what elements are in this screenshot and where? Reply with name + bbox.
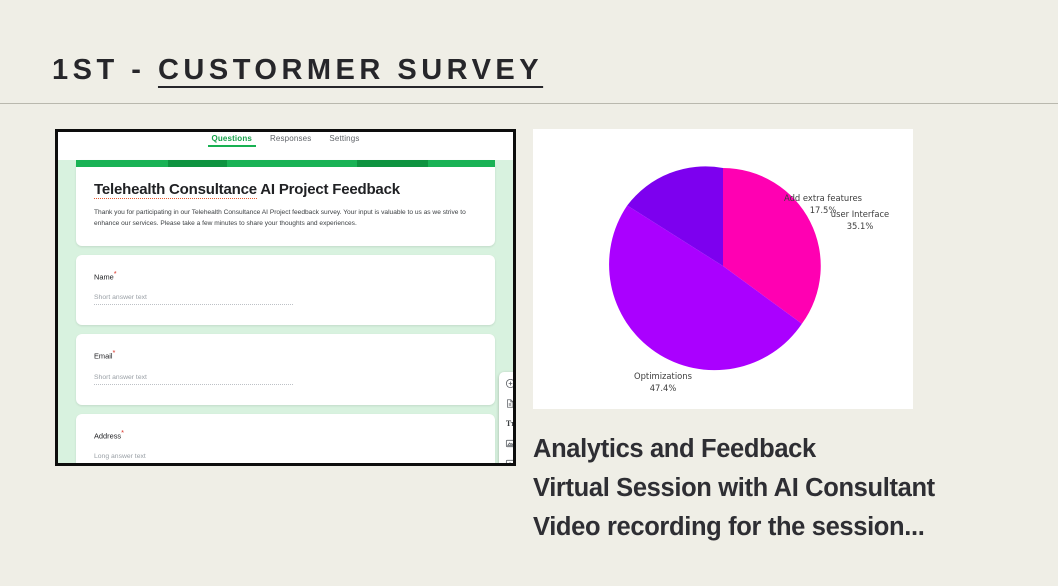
- form-title-part2: AI Project Feedback: [257, 181, 400, 198]
- add-image-icon[interactable]: [504, 437, 517, 450]
- question-card-name[interactable]: Name* Short answer text: [76, 255, 495, 325]
- google-form-screenshot: Questions Responses Settings Telehealth …: [55, 129, 516, 466]
- page-title: 1ST - CUSTORMER SURVEY: [52, 54, 543, 87]
- question-label-address-text: Address: [94, 431, 121, 440]
- pie-label-user-interface-name: user Interface: [831, 209, 889, 219]
- header-divider: [0, 103, 1058, 104]
- form-title-part1: Telehealth Consultance: [94, 181, 257, 199]
- required-asterisk: *: [112, 348, 115, 357]
- pie-chart: Add extra features 17.5% user Interface …: [533, 129, 913, 409]
- add-video-icon[interactable]: [504, 457, 517, 466]
- tab-questions[interactable]: Questions: [212, 134, 252, 147]
- caption-block: Analytics and Feedback Virtual Session w…: [533, 430, 935, 547]
- caption-line-1: Analytics and Feedback: [533, 430, 935, 469]
- pie-label-user-interface-value: 35.1%: [847, 221, 874, 231]
- form-tab-bar: Questions Responses Settings: [58, 132, 513, 152]
- answer-placeholder-name[interactable]: Short answer text: [94, 294, 293, 305]
- page-title-underlined: CUSTORMER SURVEY: [158, 54, 543, 86]
- question-label-name-text: Name: [94, 272, 114, 281]
- question-card-address[interactable]: Address* Long answer text: [76, 414, 495, 466]
- form-header-card[interactable]: Telehealth Consultance AI Project Feedba…: [76, 160, 495, 246]
- question-label-email-text: Email: [94, 352, 112, 361]
- form-description: Thank you for participating in our Teleh…: [94, 208, 477, 230]
- question-label-address: Address*: [94, 428, 477, 440]
- page-title-prefix: 1ST -: [52, 54, 158, 86]
- answer-placeholder-address[interactable]: Long answer text: [94, 453, 293, 464]
- form-editor-toolbar: Tт: [499, 372, 516, 466]
- add-title-icon[interactable]: Tт: [504, 417, 517, 430]
- caption-line-2: Virtual Session with AI Consultant: [533, 469, 935, 508]
- required-asterisk: *: [121, 428, 124, 437]
- import-questions-icon[interactable]: [504, 397, 517, 410]
- tab-settings[interactable]: Settings: [329, 134, 359, 147]
- question-label-email: Email*: [94, 348, 477, 360]
- pie-label-add-extra-features-name: Add extra features: [784, 193, 862, 203]
- form-banner-strip: [76, 160, 495, 167]
- answer-placeholder-email[interactable]: Short answer text: [94, 374, 293, 385]
- pie-label-optimizations-value: 47.4%: [650, 383, 677, 393]
- caption-line-3: Video recording for the session...: [533, 508, 935, 547]
- tab-responses[interactable]: Responses: [270, 134, 311, 147]
- form-canvas: Telehealth Consultance AI Project Feedba…: [58, 160, 513, 466]
- form-title: Telehealth Consultance AI Project Feedba…: [94, 181, 477, 198]
- pie-chart-panel: Add extra features 17.5% user Interface …: [533, 129, 913, 409]
- add-question-icon[interactable]: [504, 377, 517, 390]
- question-label-name: Name*: [94, 269, 477, 281]
- required-asterisk: *: [114, 269, 117, 278]
- slide-root: 1ST - CUSTORMER SURVEY Questions Respons…: [0, 0, 1058, 586]
- question-card-email[interactable]: Email* Short answer text: [76, 334, 495, 404]
- pie-label-optimizations-name: Optimizations: [634, 371, 692, 381]
